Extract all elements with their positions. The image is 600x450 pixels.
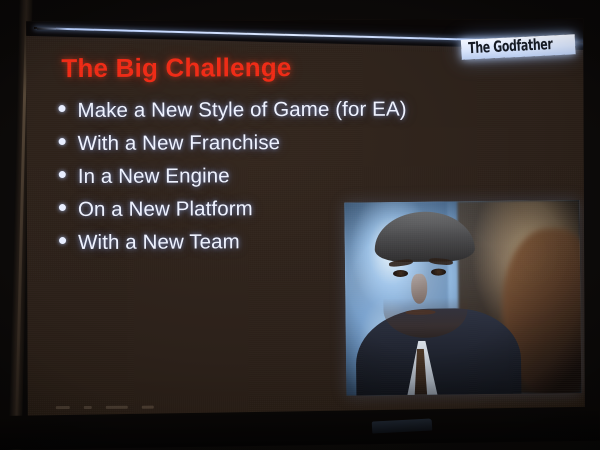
bullet-text: With a New Franchise — [78, 131, 281, 156]
footer-mark — [106, 406, 128, 409]
bullet-dot-icon — [59, 237, 66, 244]
list-item: Make a New Style of Game (for EA) — [58, 98, 406, 133]
projection-screen: The Big Challenge Make a New Style of Ga… — [26, 19, 585, 429]
slide-footer-marks — [56, 406, 154, 409]
footer-mark — [142, 406, 154, 409]
bullet-text: In a New Engine — [78, 164, 230, 189]
bullet-text: On a New Platform — [78, 197, 253, 222]
film-still-photo — [344, 200, 581, 396]
bullet-text: Make a New Style of Game (for EA) — [77, 98, 406, 123]
bullet-dot-icon — [59, 138, 66, 145]
bullet-text: With a New Team — [78, 230, 240, 255]
footer-mark — [56, 406, 70, 409]
photo-grain-overlay — [344, 200, 581, 396]
slide-title: The Big Challenge — [61, 52, 291, 84]
bullet-dot-icon — [59, 171, 66, 178]
bullet-dot-icon — [58, 105, 65, 112]
list-item: In a New Engine — [59, 164, 407, 199]
godfather-logo-text: The Godfather — [468, 36, 553, 58]
footer-mark — [84, 406, 92, 409]
bullet-dot-icon — [59, 204, 66, 211]
screenshot-stage: The Big Challenge Make a New Style of Ga… — [0, 0, 600, 450]
list-item: With a New Franchise — [59, 131, 407, 166]
